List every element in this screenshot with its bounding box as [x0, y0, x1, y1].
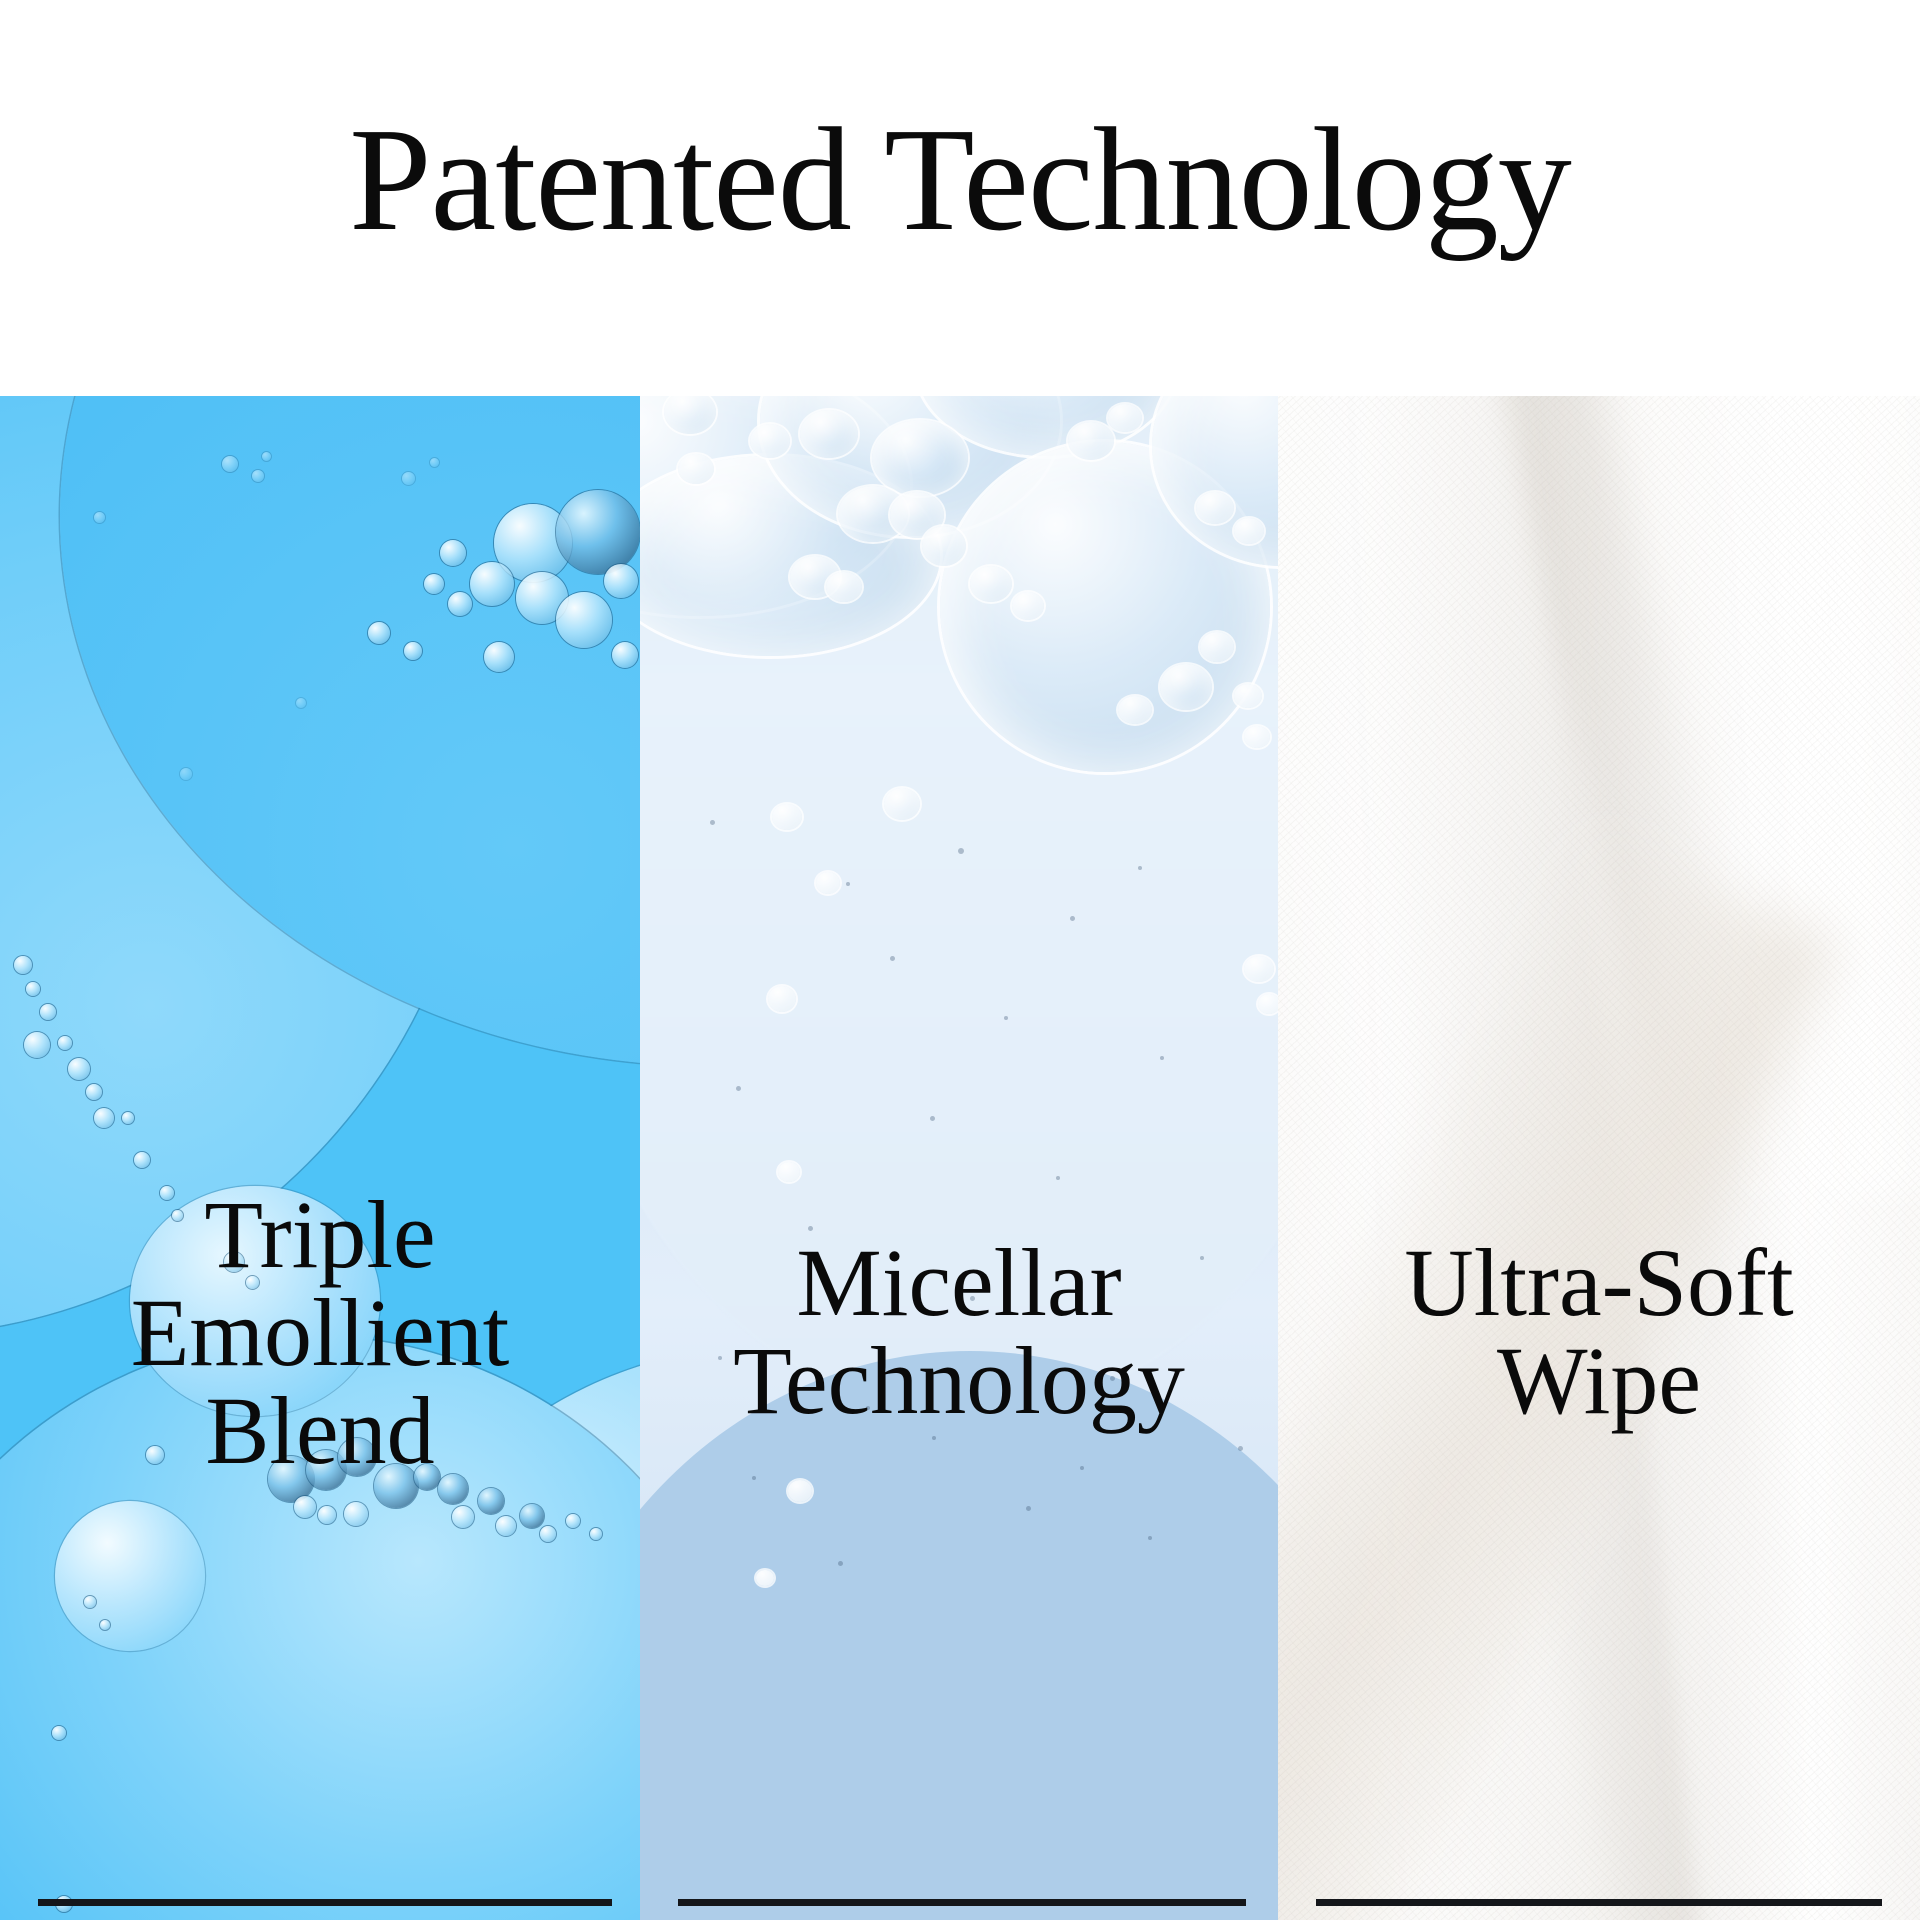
panel-micellar-technology: Micellar Technology Captures dirt and im… [640, 396, 1278, 1920]
panel-2-headline-line-2: Technology [640, 1332, 1278, 1430]
panel-1-headline-line-1: Triple [0, 1186, 640, 1284]
header: Patented Technology [0, 0, 1920, 396]
panel-2-headline: Micellar Technology [640, 1234, 1278, 1430]
panel-3-headline-line-2: Wipe [1278, 1332, 1920, 1430]
panel-2-divider-rule [678, 1899, 1246, 1906]
panel-1-headline-line-3: Blend [0, 1382, 640, 1480]
panel-1-headline-line-2: Emollient [0, 1284, 640, 1382]
page-title: Patented Technology [349, 106, 1571, 254]
panel-3-divider-rule [1316, 1899, 1882, 1906]
panel-3-headline-line-1: Ultra-Soft [1278, 1234, 1920, 1332]
panel-triple-emollient-blend: Triple Emollient Blend Dissolves waterpr… [0, 396, 640, 1920]
panel-3-headline: Ultra-Soft Wipe [1278, 1234, 1920, 1430]
feature-panels: Triple Emollient Blend Dissolves waterpr… [0, 396, 1920, 1920]
panel-1-headline: Triple Emollient Blend [0, 1186, 640, 1480]
panel-2-content: Micellar Technology Captures dirt and im… [640, 396, 1278, 1920]
panel-1-divider-rule [38, 1899, 612, 1906]
panel-2-headline-line-1: Micellar [640, 1234, 1278, 1332]
panel-1-content: Triple Emollient Blend Dissolves waterpr… [0, 396, 640, 1920]
infographic-page: Patented Technology [0, 0, 1920, 1920]
panel-3-content: Ultra-Soft Wipe Gently lifts away for cl… [1278, 396, 1920, 1920]
panel-ultra-soft-wipe: Ultra-Soft Wipe Gently lifts away for cl… [1278, 396, 1920, 1920]
